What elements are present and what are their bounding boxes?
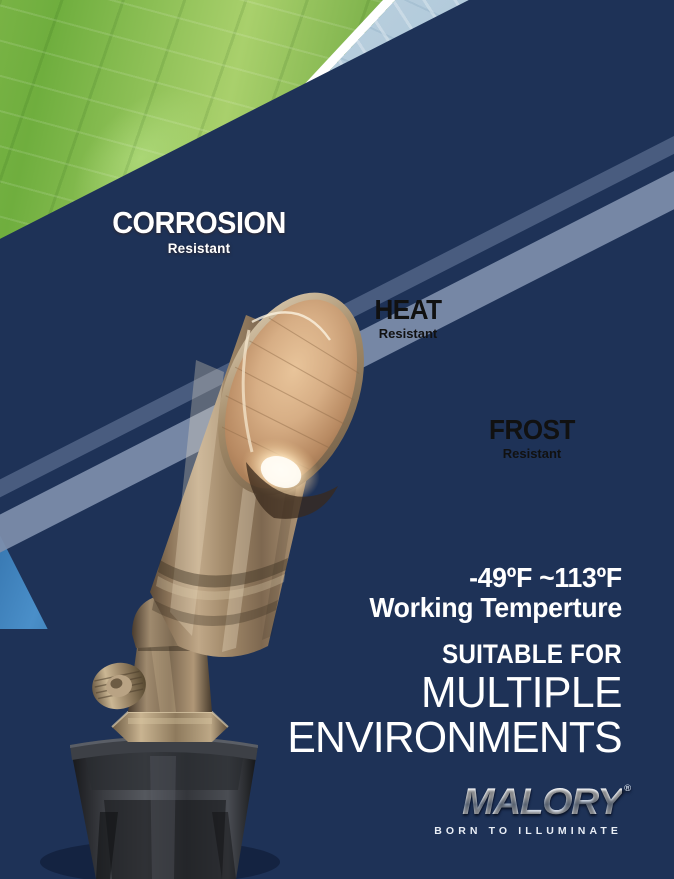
headline-multiple: MULTIPLE [287,670,622,716]
frost-subtitle: Resistant [452,447,612,460]
brand-name: MALORY [462,781,622,822]
heat-subtitle: Resistant [333,327,483,340]
temperature-label: Working Temperture [294,592,622,623]
heat-title: HEAT [338,296,478,324]
corrosion-subtitle: Resistant [104,242,294,256]
product-marketing-poster: CORROSION Resistant HEAT Resistant FROST… [0,0,674,879]
headline-environments: ENVIRONMENTS [287,715,622,761]
marketing-copy-block: -49ºF ~113ºF Working Temperture SUITABLE… [277,563,622,761]
temperature-range: -49ºF ~113ºF [294,563,622,592]
frost-label: FROST Resistant [452,416,612,460]
registered-trademark-icon: ® [625,783,632,793]
heat-label: HEAT Resistant [333,296,483,340]
headline-suitable-for: SUITABLE FOR [312,640,622,670]
corrosion-label: CORROSION Resistant [104,207,294,256]
frost-title: FROST [458,416,607,444]
brand-tagline: BORN TO ILLUMINATE [434,825,622,837]
brand-wordmark: MALORY ® [462,781,622,823]
corrosion-title: CORROSION [111,207,288,238]
brand-logo: MALORY ® BORN TO ILLUMINATE [434,781,622,837]
